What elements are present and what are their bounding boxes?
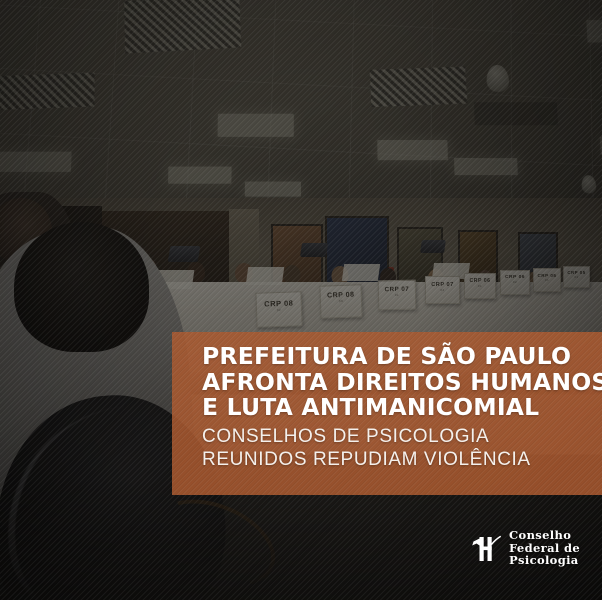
headline-line-3: E LUTA ANTIMANICOMIAL [202,395,592,421]
meeting-room-photo: CRP 08 01 CRP 08 02 CRP 08 03 CRP 07 01 … [0,0,602,600]
headline-banner: PREFEITURA DE SÃO PAULO AFRONTA DIREITOS… [172,332,602,495]
cfp-logo-wordmark: Conselho Federal de Psicologia [509,529,580,567]
social-media-card: CRP 08 01 CRP 08 02 CRP 08 03 CRP 07 01 … [0,0,602,600]
photo-vignette [0,0,602,600]
headline: PREFEITURA DE SÃO PAULO AFRONTA DIREITOS… [202,344,592,421]
cfp-logo-line-1: Conselho [509,529,580,542]
cfp-logo-mark [471,532,501,564]
cfp-logo: Conselho Federal de Psicologia [471,529,580,567]
subheadline-line-1: CONSELHOS DE PSICOLOGIA [202,425,592,448]
subheadline-line-2: REUNIDOS REPUDIAM VIOLÊNCIA [202,448,592,471]
headline-line-1: PREFEITURA DE SÃO PAULO [202,344,592,370]
cfp-logo-line-3: Psicologia [509,554,580,567]
banner-text-block: PREFEITURA DE SÃO PAULO AFRONTA DIREITOS… [202,344,592,471]
subheadline: CONSELHOS DE PSICOLOGIA REUNIDOS REPUDIA… [202,425,592,471]
headline-line-2: AFRONTA DIREITOS HUMANOS [202,370,592,396]
